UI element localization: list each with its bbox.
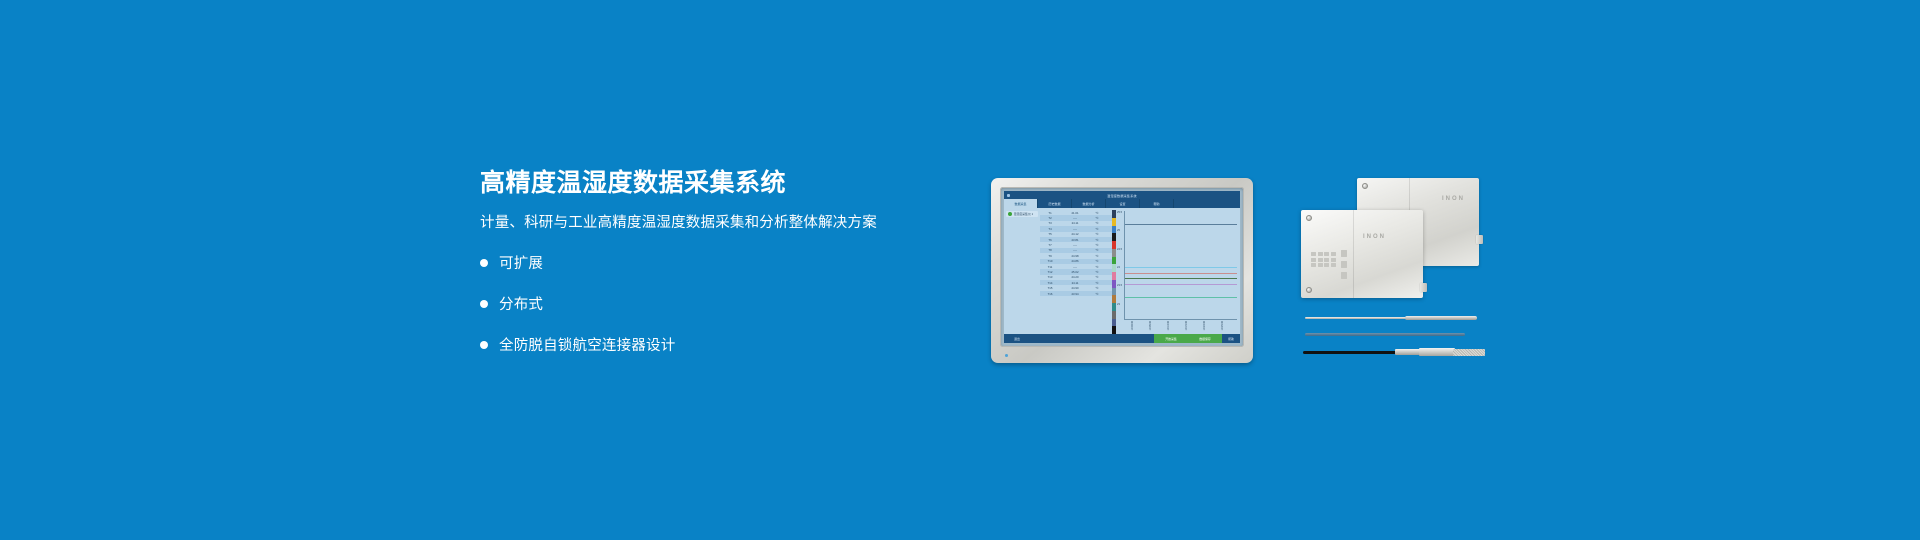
cell-value: 24.11 bbox=[1060, 281, 1090, 285]
cell-value: ---- bbox=[1060, 248, 1090, 252]
cell-channel: T15 bbox=[1040, 286, 1060, 290]
power-led-icon bbox=[1005, 354, 1008, 357]
table-row[interactable]: T524.12℃ bbox=[1040, 232, 1112, 237]
tab-data-acquisition[interactable]: 数据采集 bbox=[1004, 199, 1038, 208]
cell-value: 24.20 bbox=[1060, 275, 1090, 279]
cell-channel: T7 bbox=[1040, 243, 1060, 247]
table-row[interactable]: T4----℃ bbox=[1040, 226, 1112, 231]
sidebar-item-label: 温湿度采集仪 1 bbox=[1014, 212, 1034, 216]
tab-analysis[interactable]: 数据分析 bbox=[1072, 199, 1106, 208]
cell-unit: ℃ bbox=[1090, 238, 1104, 242]
start-acquisition-button[interactable]: 开始采集 bbox=[1154, 334, 1188, 343]
cell-unit: ℃ bbox=[1090, 243, 1104, 247]
device-tree-sidebar: 温湿度采集仪 1 bbox=[1004, 208, 1040, 334]
table-row[interactable]: T623.81℃ bbox=[1040, 237, 1112, 242]
cell-value: 24.12 bbox=[1060, 232, 1090, 236]
footer-spacer bbox=[1030, 334, 1154, 343]
y-tick-label: 23.5 bbox=[1117, 284, 1122, 287]
channel-table: T121.01℃T2----℃T324.11℃T4----℃T524.12℃T6… bbox=[1040, 208, 1112, 334]
bullet-dot-icon bbox=[480, 341, 488, 349]
cell-unit: ℃ bbox=[1090, 211, 1104, 215]
list-item: 全防脱自锁航空连接器设计 bbox=[480, 334, 950, 355]
cell-channel: T3 bbox=[1040, 221, 1060, 225]
table-row[interactable]: T1324.20℃ bbox=[1040, 275, 1112, 280]
save-data-button[interactable]: 数据保存 bbox=[1188, 334, 1222, 343]
cell-value: 23.94 bbox=[1060, 292, 1090, 296]
cell-unit: ℃ bbox=[1090, 286, 1104, 290]
y-tick-label: 24 bbox=[1117, 266, 1120, 269]
table-row[interactable]: T924.98℃ bbox=[1040, 253, 1112, 258]
cell-value: 21.01 bbox=[1060, 211, 1090, 215]
cell-unit: ℃ bbox=[1090, 221, 1104, 225]
page-subtitle: 计量、科研与工业高精度温湿度数据采集和分析整体解决方案 bbox=[480, 214, 950, 233]
enclosure-seam bbox=[1353, 210, 1354, 298]
x-tick-label: 10:15:00 bbox=[1185, 321, 1188, 330]
cell-unit: ℃ bbox=[1090, 281, 1104, 285]
cell-unit: ℃ bbox=[1090, 259, 1104, 263]
cell-channel: T2 bbox=[1040, 216, 1060, 220]
chart-series-line bbox=[1125, 273, 1237, 274]
chart-x-axis: 10:00:0010:05:0010:10:0010:15:0010:20:00… bbox=[1124, 321, 1237, 333]
table-row[interactable]: T1024.86℃ bbox=[1040, 259, 1112, 264]
brand-label: INON bbox=[1442, 196, 1465, 202]
cell-value: 24.86 bbox=[1060, 259, 1090, 263]
cell-unit: ℃ bbox=[1090, 270, 1104, 274]
monitor-screen-frame: 温湿度数据采集系统 数据采集 历史数据 数据分析 设置 帮助 温湿度采集仪 1 bbox=[1000, 187, 1244, 347]
brand-label: INON bbox=[1363, 234, 1386, 240]
cell-value: ---- bbox=[1060, 243, 1090, 247]
x-tick-label: 10:20:00 bbox=[1203, 321, 1206, 330]
cell-value: 25.02 bbox=[1060, 270, 1090, 274]
sintered-filter-icon bbox=[1453, 349, 1485, 356]
software-titlebar: 温湿度数据采集系统 bbox=[1004, 191, 1240, 199]
cell-unit: ℃ bbox=[1090, 227, 1104, 231]
table-row[interactable]: T1524.90℃ bbox=[1040, 285, 1112, 290]
device-product-images: INON INON bbox=[1295, 176, 1490, 361]
list-item: 分布式 bbox=[480, 293, 950, 314]
table-row[interactable]: T121.01℃ bbox=[1040, 210, 1112, 215]
banner-copy: 高精度温湿度数据采集系统 计量、科研与工业高精度温湿度数据采集和分析整体解决方案… bbox=[480, 170, 950, 375]
cell-value: 23.81 bbox=[1060, 238, 1090, 242]
cell-value: ---- bbox=[1060, 216, 1090, 220]
table-row[interactable]: T1225.02℃ bbox=[1040, 269, 1112, 274]
product-banner: 高精度温湿度数据采集系统 计量、科研与工业高精度温湿度数据采集和分析整体解决方案… bbox=[0, 0, 1920, 540]
help-button[interactable]: 帮助 bbox=[1222, 334, 1240, 343]
chart-series-line bbox=[1125, 267, 1237, 268]
feature-label: 分布式 bbox=[499, 293, 543, 314]
cell-channel: T5 bbox=[1040, 232, 1060, 236]
page-title: 高精度温湿度数据采集系统 bbox=[480, 170, 950, 198]
screw-icon bbox=[1362, 183, 1368, 189]
cell-unit: ℃ bbox=[1090, 292, 1104, 296]
probe-cable bbox=[1303, 351, 1399, 354]
y-tick-label: 25 bbox=[1117, 229, 1120, 232]
table-row[interactable]: T1623.94℃ bbox=[1040, 291, 1112, 296]
y-tick-label: 23 bbox=[1117, 303, 1120, 306]
chart-series-line bbox=[1125, 224, 1237, 225]
sidebar-item-device[interactable]: 温湿度采集仪 1 bbox=[1006, 211, 1038, 217]
chart-series-line bbox=[1125, 284, 1237, 285]
table-row[interactable]: T8----℃ bbox=[1040, 248, 1112, 253]
y-tick-label: 25.5 bbox=[1117, 211, 1122, 214]
cell-channel: T9 bbox=[1040, 254, 1060, 258]
temperature-probe-stainless bbox=[1305, 316, 1477, 320]
x-tick-label: 10:25:00 bbox=[1221, 321, 1224, 330]
cell-unit: ℃ bbox=[1090, 248, 1104, 252]
chart-series-line bbox=[1125, 297, 1237, 298]
list-item: 可扩展 bbox=[480, 252, 950, 273]
x-tick-label: 10:00:00 bbox=[1131, 321, 1134, 330]
monitor-product-image: 温湿度数据采集系统 数据采集 历史数据 数据分析 设置 帮助 温湿度采集仪 1 bbox=[991, 178, 1253, 363]
chart-series-line bbox=[1125, 278, 1237, 279]
y-tick-label: 24.5 bbox=[1117, 248, 1122, 251]
table-row[interactable]: T11----℃ bbox=[1040, 264, 1112, 269]
exit-button[interactable]: 退出 bbox=[1004, 334, 1030, 343]
connector-port bbox=[1420, 283, 1427, 292]
probe-ferrule bbox=[1395, 349, 1421, 355]
cell-value: 24.90 bbox=[1060, 286, 1090, 290]
cell-channel: T14 bbox=[1040, 281, 1060, 285]
probe-cable bbox=[1305, 333, 1465, 336]
cell-channel: T8 bbox=[1040, 248, 1060, 252]
chart-y-axis: 25.52524.52423.523 bbox=[1117, 210, 1123, 320]
cell-channel: T13 bbox=[1040, 275, 1060, 279]
trend-chart: 25.52524.52423.523 10:00:0010:05:0010:10… bbox=[1116, 208, 1240, 334]
table-row[interactable]: T2----℃ bbox=[1040, 215, 1112, 220]
software-title: 温湿度数据采集系统 bbox=[1004, 193, 1240, 198]
cell-channel: T1 bbox=[1040, 211, 1060, 215]
feature-label: 可扩展 bbox=[499, 252, 543, 273]
monitor-chin bbox=[1000, 349, 1244, 361]
cell-value: 24.98 bbox=[1060, 254, 1090, 258]
feature-list: 可扩展 分布式 全防脱自锁航空连接器设计 bbox=[480, 252, 950, 355]
cell-channel: T16 bbox=[1040, 292, 1060, 296]
cell-channel: T11 bbox=[1040, 265, 1060, 269]
cell-channel: T12 bbox=[1040, 270, 1060, 274]
cell-value: ---- bbox=[1060, 265, 1090, 269]
status-online-icon bbox=[1008, 212, 1012, 216]
cell-unit: ℃ bbox=[1090, 232, 1104, 236]
software-screen: 温湿度数据采集系统 数据采集 历史数据 数据分析 设置 帮助 温湿度采集仪 1 bbox=[1004, 191, 1240, 343]
software-body: 温湿度采集仪 1 T121.01℃T2----℃T324.11℃T4----℃T… bbox=[1004, 208, 1240, 334]
terminal-block-icon bbox=[1311, 252, 1336, 267]
screw-icon bbox=[1306, 215, 1312, 221]
bullet-dot-icon bbox=[480, 259, 488, 267]
probe-tip bbox=[1405, 316, 1477, 320]
temperature-probe-cable bbox=[1305, 332, 1465, 336]
software-footer: 退出 开始采集 数据保存 帮助 bbox=[1004, 334, 1240, 343]
software-tabbar: 数据采集 历史数据 数据分析 设置 帮助 bbox=[1004, 199, 1240, 208]
cell-unit: ℃ bbox=[1090, 275, 1104, 279]
table-row[interactable]: T324.11℃ bbox=[1040, 221, 1112, 226]
chart-plot-area bbox=[1124, 211, 1237, 320]
x-tick-label: 10:05:00 bbox=[1149, 321, 1152, 330]
data-logger-enclosure-front: INON bbox=[1301, 210, 1423, 298]
x-tick-label: 10:10:00 bbox=[1167, 321, 1170, 330]
connector-port bbox=[1476, 235, 1483, 244]
cell-channel: T4 bbox=[1040, 227, 1060, 231]
table-row[interactable]: T1424.11℃ bbox=[1040, 280, 1112, 285]
cell-value: ---- bbox=[1060, 227, 1090, 231]
humidity-probe-sintered bbox=[1303, 348, 1483, 356]
cell-unit: ℃ bbox=[1090, 254, 1104, 258]
cell-unit: ℃ bbox=[1090, 216, 1104, 220]
table-row[interactable]: T7----℃ bbox=[1040, 242, 1112, 247]
probe-body bbox=[1419, 348, 1455, 356]
feature-label: 全防脱自锁航空连接器设计 bbox=[499, 334, 675, 355]
cell-channel: T10 bbox=[1040, 259, 1060, 263]
bullet-dot-icon bbox=[480, 300, 488, 308]
cell-channel: T6 bbox=[1040, 238, 1060, 242]
cell-unit: ℃ bbox=[1090, 265, 1104, 269]
tab-history[interactable]: 历史数据 bbox=[1038, 199, 1072, 208]
port-group-icon bbox=[1341, 250, 1347, 279]
screw-icon bbox=[1306, 287, 1312, 293]
tab-settings[interactable]: 设置 bbox=[1106, 199, 1140, 208]
tab-help[interactable]: 帮助 bbox=[1140, 199, 1174, 208]
probe-shaft bbox=[1305, 317, 1410, 319]
cell-value: 24.11 bbox=[1060, 221, 1090, 225]
